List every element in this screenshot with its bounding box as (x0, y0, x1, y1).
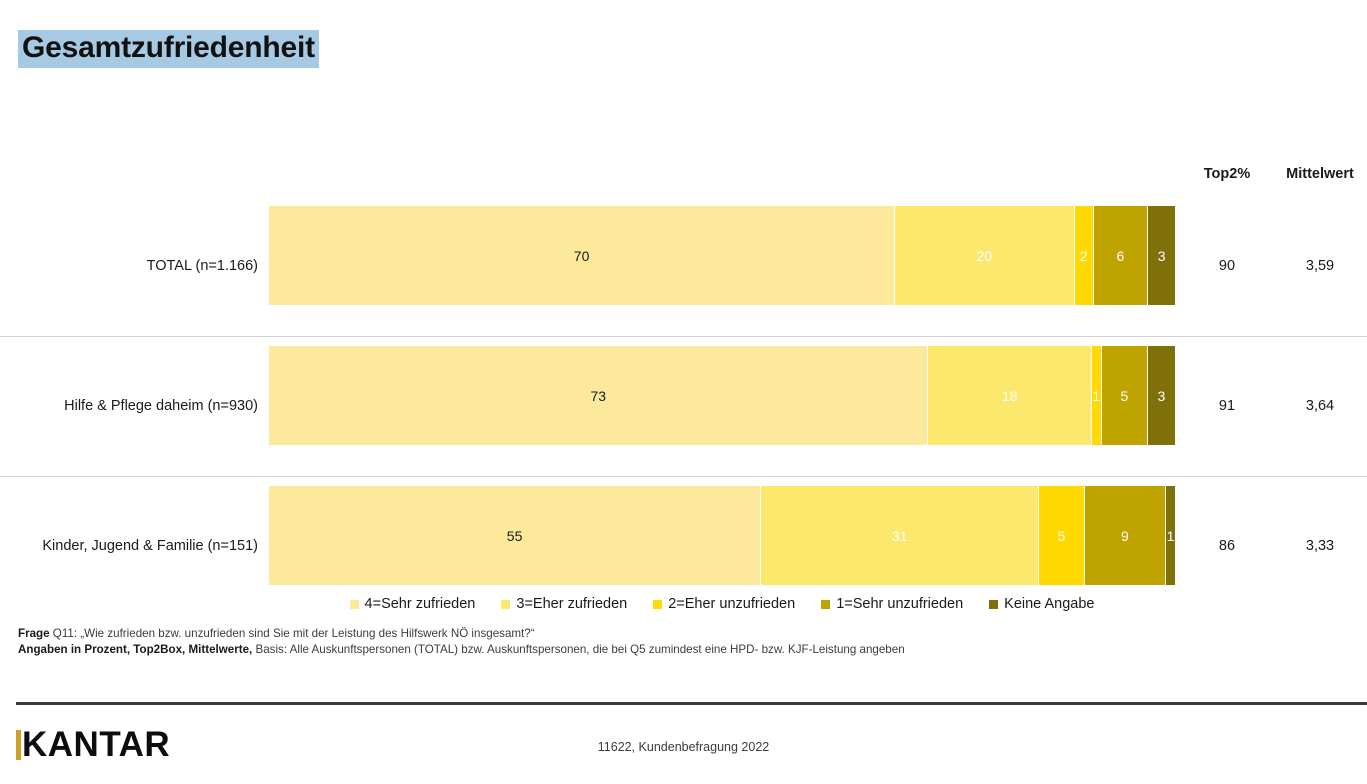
bar-segment-value: 9 (1121, 529, 1129, 543)
category-label: Hilfe & Pflege daheim (n=930) (0, 336, 258, 476)
bar-segment-value: 6 (1117, 249, 1125, 263)
footer-divider (16, 702, 1367, 705)
legend-swatch-icon (821, 600, 830, 609)
stacked-bar: 7020263 (269, 206, 1175, 305)
bar-segment-value: 31 (892, 529, 908, 543)
column-header-top2: Top2% (1178, 166, 1276, 182)
bar-segment-value: 5 (1057, 529, 1065, 543)
page-title: Gesamtzufriedenheit (18, 30, 319, 68)
slide: Gesamtzufriedenheit Top2% Mittelwert TOT… (0, 0, 1367, 784)
footnote-1-text: Q11: „Wie zufrieden bzw. unzufrieden sin… (50, 627, 535, 640)
bar-segment: 18 (928, 346, 1091, 445)
bar-segment: 6 (1094, 206, 1149, 305)
bar-segment-value: 73 (590, 389, 606, 403)
bar-segment: 20 (895, 206, 1075, 305)
footnote-line-2: Angaben in Prozent, Top2Box, Mittelwerte… (18, 642, 905, 658)
category-label: TOTAL (n=1.166) (0, 196, 258, 336)
bar-segment-value: 1 (1167, 529, 1175, 543)
legend-swatch-icon (350, 600, 359, 609)
bar-segment: 73 (269, 346, 928, 445)
footnote-2-text: Basis: Alle Auskunftspersonen (TOTAL) bz… (252, 643, 904, 656)
stacked-bar: 5531591 (269, 486, 1175, 585)
legend-swatch-icon (501, 600, 510, 609)
bar-segment: 55 (269, 486, 761, 585)
stacked-bar: 7318153 (269, 346, 1175, 445)
legend-item[interactable]: 2=Eher unzufrieden (653, 596, 795, 612)
mittelwert-value: 3,64 (1272, 336, 1367, 476)
legend-item[interactable]: 4=Sehr zufrieden (350, 596, 476, 612)
legend-label: 1=Sehr unzufrieden (836, 596, 963, 612)
top2-value: 91 (1178, 336, 1276, 476)
legend-label: 4=Sehr zufrieden (365, 596, 476, 612)
chart-rows: TOTAL (n=1.166)7020263903,59Hilfe & Pfle… (0, 196, 1367, 616)
chart-row: Kinder, Jugend & Familie (n=151)55315918… (0, 476, 1367, 616)
bar-segment: 3 (1148, 206, 1175, 305)
legend-item[interactable]: Keine Angabe (989, 596, 1094, 612)
footnote-2-label: Angaben in Prozent, Top2Box, Mittelwerte… (18, 643, 252, 656)
bar-segment-value: 5 (1120, 389, 1128, 403)
legend-label: Keine Angabe (1004, 596, 1094, 612)
bar-segment: 5 (1102, 346, 1148, 445)
legend-item[interactable]: 3=Eher zufrieden (501, 596, 627, 612)
top2-value: 86 (1178, 476, 1276, 616)
bar-segment-value: 3 (1158, 249, 1166, 263)
bar-segment-value: 70 (574, 249, 590, 263)
bar-segment-value: 20 (977, 249, 993, 263)
mittelwert-value: 3,59 (1272, 196, 1367, 336)
mittelwert-value: 3,33 (1272, 476, 1367, 616)
bar-segment: 31 (761, 486, 1039, 585)
top2-value: 90 (1178, 196, 1276, 336)
footnote-line-1: Frage Q11: „Wie zufrieden bzw. unzufried… (18, 626, 905, 642)
legend-swatch-icon (989, 600, 998, 609)
category-label: Kinder, Jugend & Familie (n=151) (0, 476, 258, 616)
legend-label: 3=Eher zufrieden (516, 596, 627, 612)
bar-segment-value: 2 (1080, 249, 1088, 263)
footer-caption: 11622, Kundenbefragung 2022 (0, 740, 1367, 754)
column-header-mittelwert: Mittelwert (1272, 166, 1367, 182)
legend-label: 2=Eher unzufrieden (668, 596, 795, 612)
bar-segment: 3 (1148, 346, 1175, 445)
footnote-1-label: Frage (18, 627, 50, 640)
bar-segment-value: 18 (1002, 389, 1018, 403)
bar-segment-value: 1 (1092, 389, 1100, 403)
chart-legend: 4=Sehr zufrieden3=Eher zufrieden2=Eher u… (269, 596, 1175, 612)
footnotes: Frage Q11: „Wie zufrieden bzw. unzufried… (18, 626, 905, 659)
bar-segment-value: 3 (1158, 389, 1166, 403)
legend-swatch-icon (653, 600, 662, 609)
chart-row: TOTAL (n=1.166)7020263903,59 (0, 196, 1367, 336)
bar-segment-value: 55 (507, 529, 523, 543)
bar-segment: 9 (1085, 486, 1166, 585)
chart-row: Hilfe & Pflege daheim (n=930)7318153913,… (0, 336, 1367, 476)
bar-segment: 1 (1166, 486, 1175, 585)
legend-item[interactable]: 1=Sehr unzufrieden (821, 596, 963, 612)
bar-segment: 1 (1092, 346, 1102, 445)
bar-segment: 2 (1075, 206, 1094, 305)
bar-segment: 70 (269, 206, 895, 305)
bar-segment: 5 (1039, 486, 1085, 585)
